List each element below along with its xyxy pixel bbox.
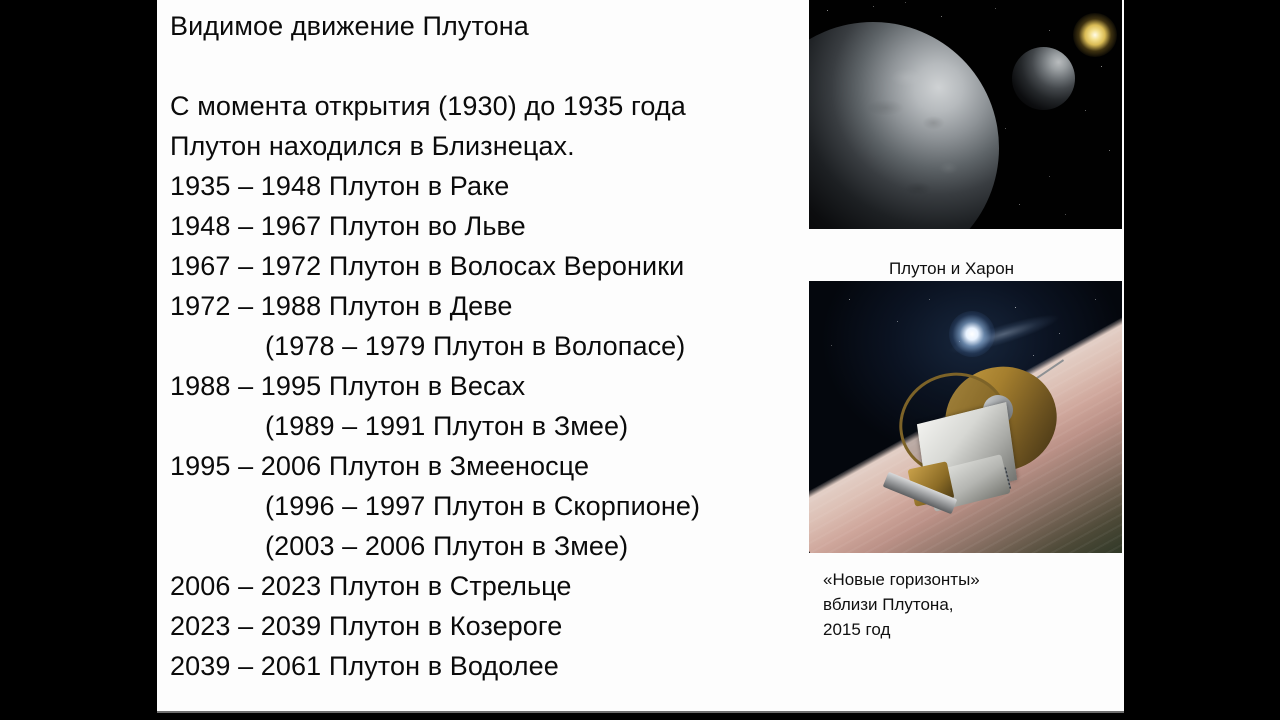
body-line: 1995 – 2006 Плутон в Змееносце [170,446,815,486]
body-line-indented: (1989 – 1991 Плутон в Змее) [170,406,815,446]
slide: Видимое движение Плутона С момента откры… [0,0,1280,720]
body-line-indented: (1978 – 1979 Плутон в Волопасе) [170,326,815,366]
sun-icon [949,311,995,357]
charon-crescent [1012,47,1075,110]
body-line: 2006 – 2023 Плутон в Стрельце [170,566,815,606]
text-column: Видимое движение Плутона С момента откры… [170,6,815,686]
body-line: 2023 – 2039 Плутон в Козероге [170,606,815,646]
new-horizons-spacecraft [887,367,1067,517]
panel-bottom-rule [157,711,1124,713]
body-line: 1948 – 1967 Плутон во Льве [170,206,815,246]
content-panel: Видимое движение Плутона С момента откры… [157,0,1124,713]
title-spacer [170,46,815,86]
new-horizons-caption: «Новые горизонты» вблизи Плутона, 2015 г… [809,553,1124,642]
figure-column: Плутон и Харон [809,0,1124,642]
sun-icon [1073,13,1117,57]
body-line: 2039 – 2061 Плутон в Водолее [170,646,815,686]
body-line: 1972 – 1988 Плутон в Деве [170,286,815,326]
pluto-and-charon-image [809,0,1122,229]
body-line: 1967 – 1972 Плутон в Волосах Вероники [170,246,815,286]
body-line: С момента открытия (1930) до 1935 года [170,86,815,126]
new-horizons-image [809,281,1122,553]
caption-line: 2015 год [823,617,1124,642]
body-line: 1988 – 1995 Плутон в Весах [170,366,815,406]
caption-line: «Новые горизонты» [823,567,1124,592]
body-line: Плутон находился в Близнецах. [170,126,815,166]
slide-title: Видимое движение Плутона [170,6,815,46]
caption-line: вблизи Плутона, [823,592,1124,617]
body-line-indented: (1996 – 1997 Плутон в Скорпионе) [170,486,815,526]
body-line-indented: (2003 – 2006 Плутон в Змее) [170,526,815,566]
body-line: 1935 – 1948 Плутон в Раке [170,166,815,206]
pluto-and-charon-caption: Плутон и Харон [809,229,1124,281]
